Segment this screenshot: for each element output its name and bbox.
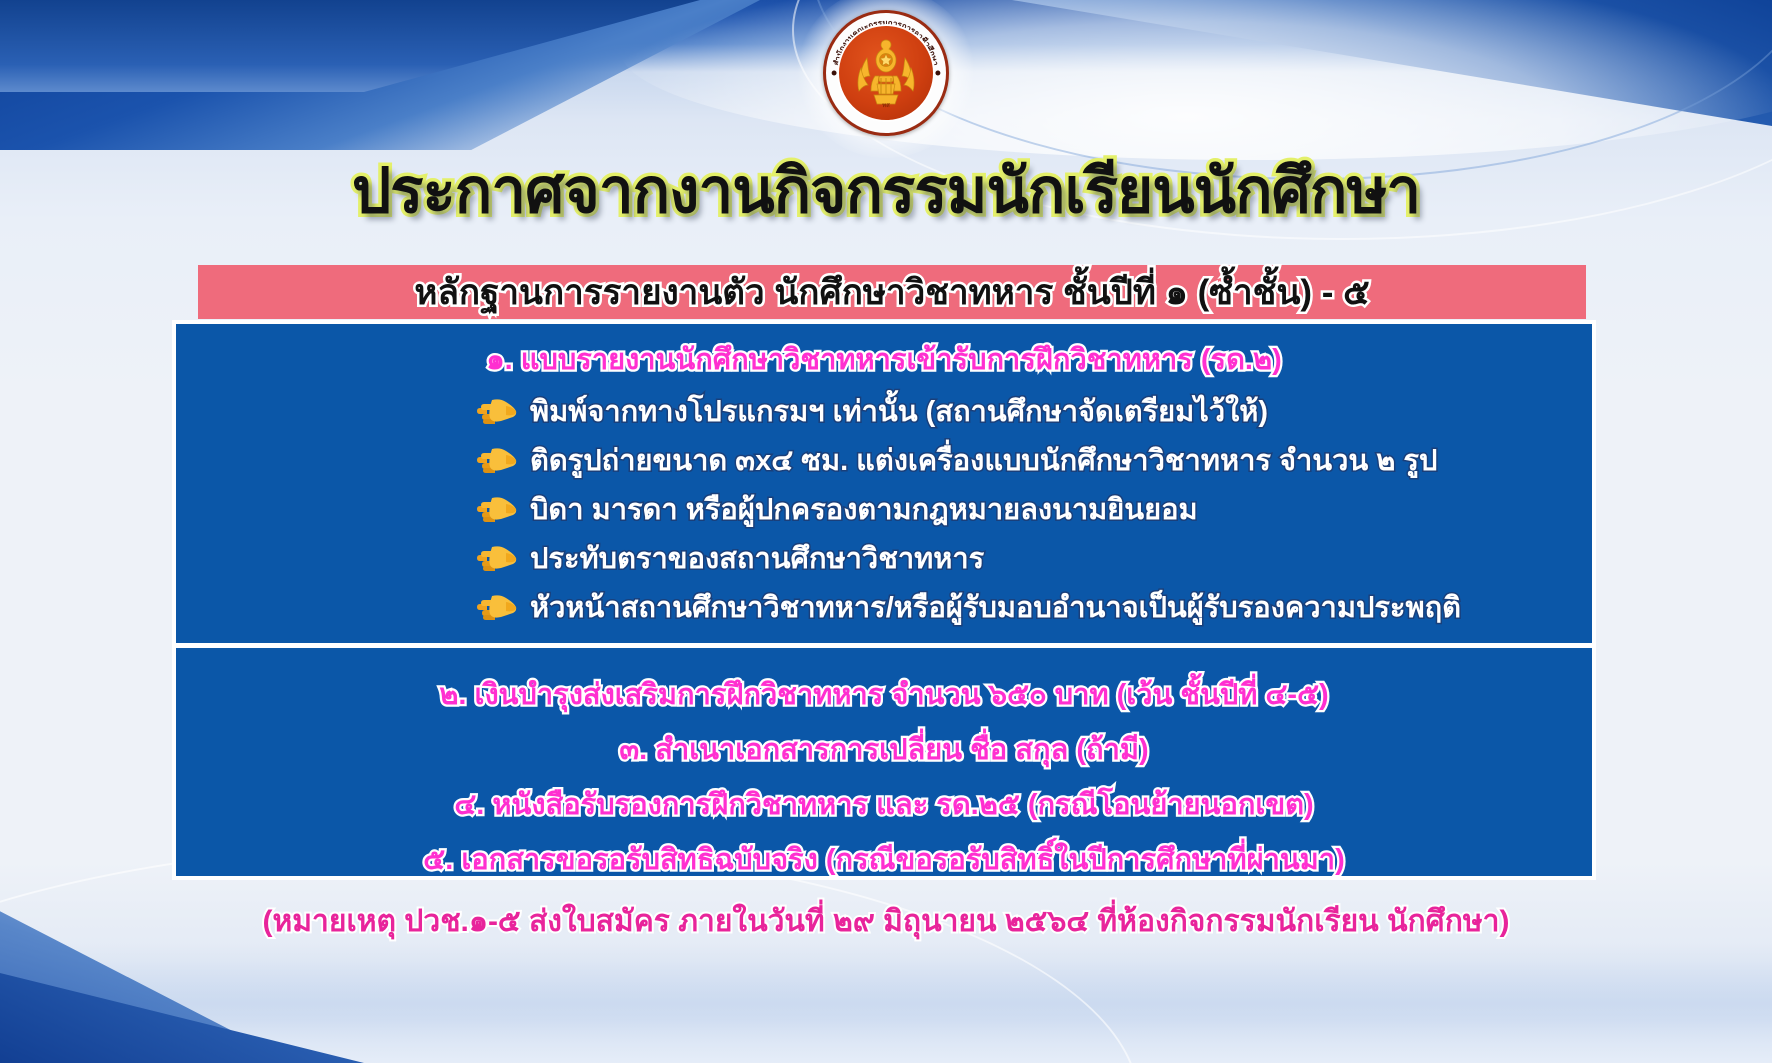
list-item-label: ประทับตราของสถานศึกษาวิชาทหาร: [530, 535, 984, 581]
pointing-hand-icon: [476, 493, 520, 525]
numbered-item: ๒. เงินบำรุงส่งเสริมการฝึกวิชาทหาร จำนวน…: [176, 671, 1592, 717]
numbered-item: ๓. สำเนาเอกสารการเปลี่ยน ชื่อ สกุล (ถ้าม…: [176, 726, 1592, 772]
content-panel: ๑. แบบรายงานนักศึกษาวิชาทหารเข้ารับการฝึ…: [172, 320, 1596, 880]
requirements-section-2: ๒. เงินบำรุงส่งเสริมการฝึกวิชาทหาร จำนวน…: [176, 648, 1592, 901]
list-item: ติดรูปถ่ายขนาด ๓x๔ ซม. แต่งเครื่องแบบนัก…: [176, 437, 1592, 483]
list-item: หัวหน้าสถานศึกษาวิชาทหาร/หรือผู้รับมอบอำ…: [176, 584, 1592, 630]
list-item: บิดา มารดา หรือผู้ปกครองตามกฎหมายลงนามยิ…: [176, 486, 1592, 532]
numbered-item: ๕. เอกสารขอรอรับสิทธิฉบับจริง (กรณีขอรอร…: [176, 836, 1592, 882]
section1-heading: ๑. แบบรายงานนักศึกษาวิชาทหารเข้ารับการฝึ…: [176, 336, 1592, 382]
pointing-hand-icon: [476, 395, 520, 427]
garuda-emblem-icon: ทส: [855, 38, 917, 108]
svg-text:ทส: ทส: [882, 102, 890, 108]
list-item: ประทับตราของสถานศึกษาวิชาทหาร: [176, 535, 1592, 581]
logo-seal: สำนักงานคณะกรรมการการอาชีวศึกษา วิทยาลัย…: [823, 10, 949, 136]
list-item-label: พิมพ์จากทางโปรแกรมฯ เท่านั้น (สถานศึกษาจ…: [530, 388, 1268, 434]
pointing-hand-icon: [476, 591, 520, 623]
requirements-section-1: ๑. แบบรายงานนักศึกษาวิชาทหารเข้ารับการฝึ…: [176, 324, 1592, 643]
list-item: พิมพ์จากทางโปรแกรมฯ เท่านั้น (สถานศึกษาจ…: [176, 388, 1592, 434]
footer-note: (หมายเหตุ ปวช.๑-๕ ส่งใบสมัคร ภายในวันที่…: [0, 898, 1772, 945]
list-item-label: บิดา มารดา หรือผู้ปกครองตามกฎหมายลงนามยิ…: [530, 486, 1198, 532]
pointing-hand-icon: [476, 542, 520, 574]
pointing-hand-icon: [476, 444, 520, 476]
numbered-item: ๔. หนังสือรับรองการฝึกวิชาทหาร และ รด.๒๕…: [176, 781, 1592, 827]
subtitle-text: หลักฐานการรายงานตัว นักศึกษาวิชาทหาร ชั้…: [414, 265, 1369, 320]
institution-logo: สำนักงานคณะกรรมการการอาชีวศึกษา วิทยาลัย…: [823, 10, 949, 136]
list-item-label: ติดรูปถ่ายขนาด ๓x๔ ซม. แต่งเครื่องแบบนัก…: [530, 437, 1437, 483]
list-item-label: หัวหน้าสถานศึกษาวิชาทหาร/หรือผู้รับมอบอำ…: [530, 584, 1461, 630]
subtitle-banner: หลักฐานการรายงานตัว นักศึกษาวิชาทหาร ชั้…: [198, 265, 1586, 319]
